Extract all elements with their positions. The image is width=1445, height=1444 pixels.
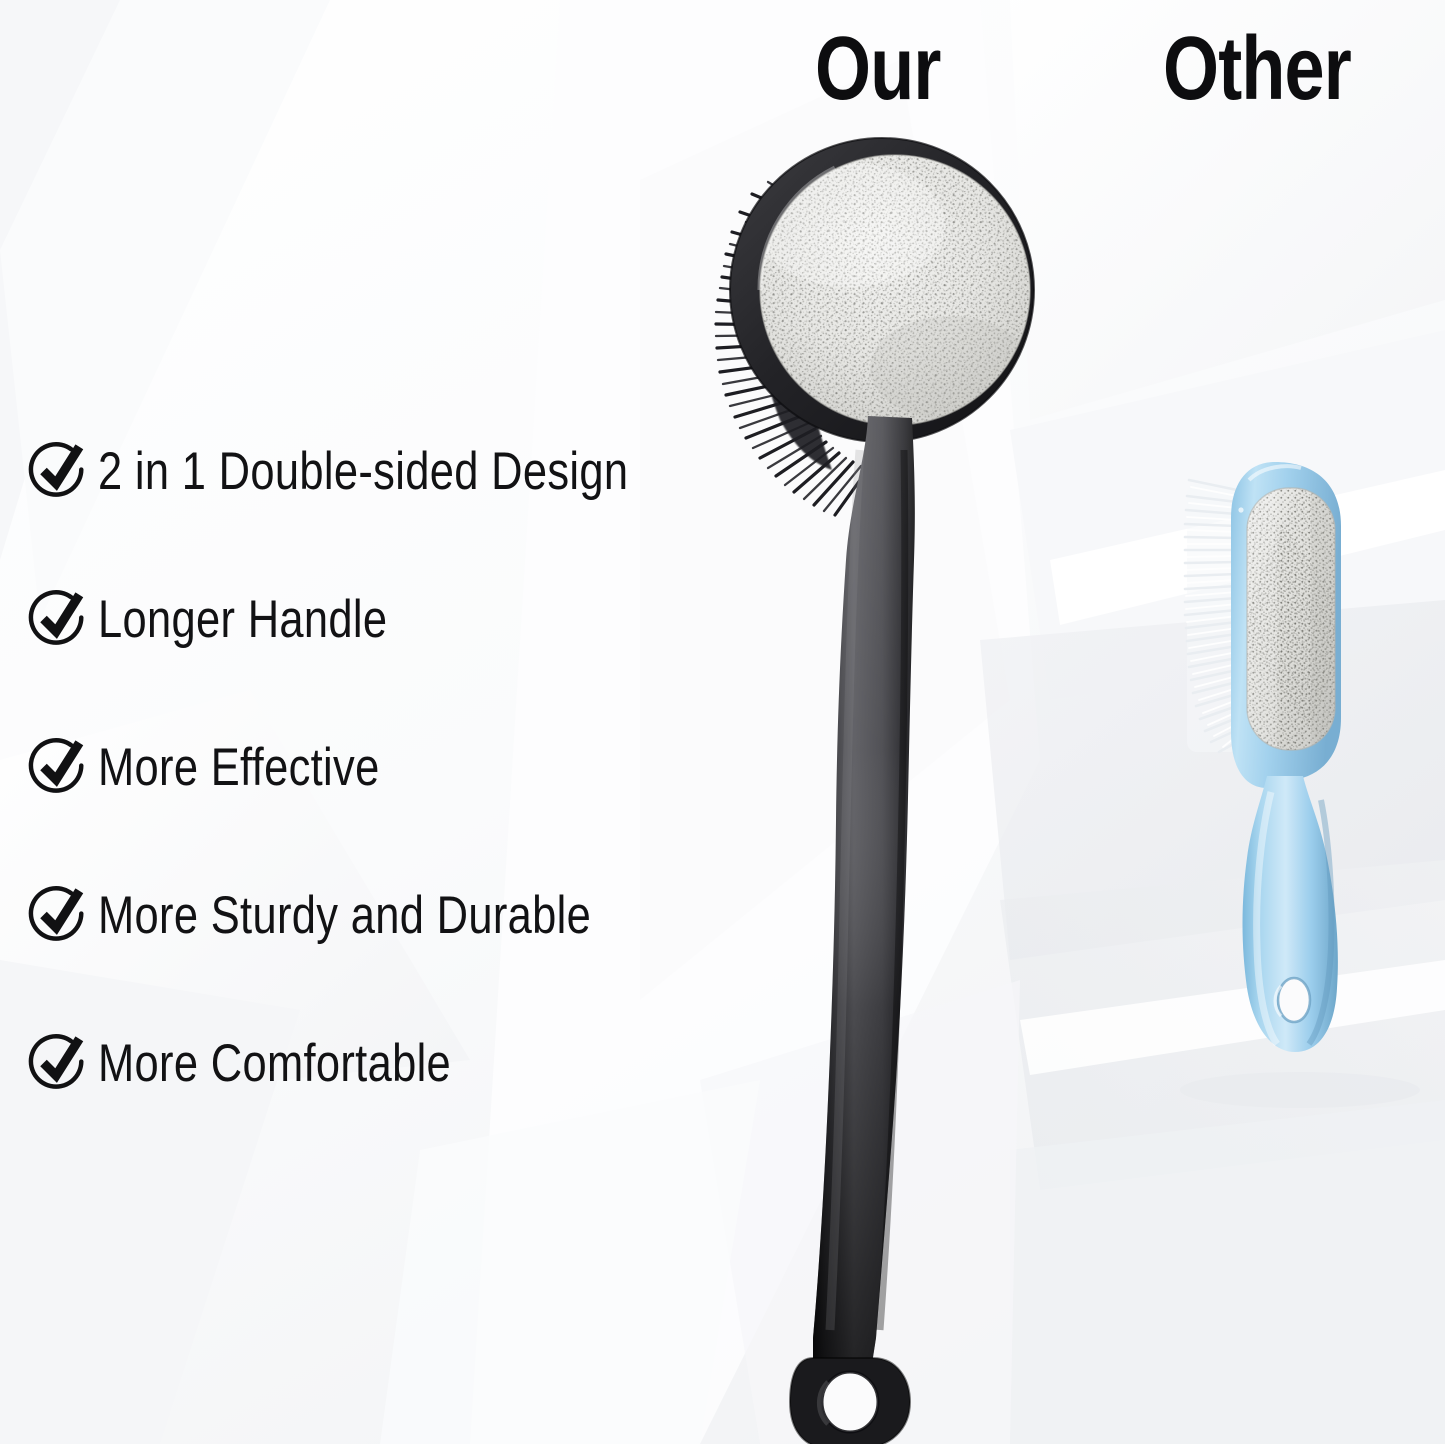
check-circle-icon: [28, 440, 90, 502]
product-image-other: [1175, 440, 1405, 1080]
handle-ours: [813, 416, 915, 1370]
check-circle-icon: [28, 884, 90, 946]
infographic-canvas: Our Other 2 in 1 Double-sided Design Lon…: [0, 0, 1445, 1444]
feature-label: More Comfortable: [98, 1037, 451, 1090]
feature-label: 2 in 1 Double-sided Design: [98, 445, 628, 498]
feature-label: More Sturdy and Durable: [98, 889, 591, 942]
product-image-ours: [700, 130, 1050, 1444]
check-circle-icon: [28, 588, 90, 650]
column-header-other: Other: [1163, 24, 1351, 114]
feature-label: More Effective: [98, 741, 380, 794]
hang-hole-tip-ours: [790, 1358, 910, 1444]
bristles-other: [1185, 480, 1239, 752]
column-header-ours: Our: [815, 24, 941, 114]
feature-label: Longer Handle: [98, 593, 387, 646]
check-circle-icon: [28, 1032, 90, 1094]
check-circle-icon: [28, 736, 90, 798]
